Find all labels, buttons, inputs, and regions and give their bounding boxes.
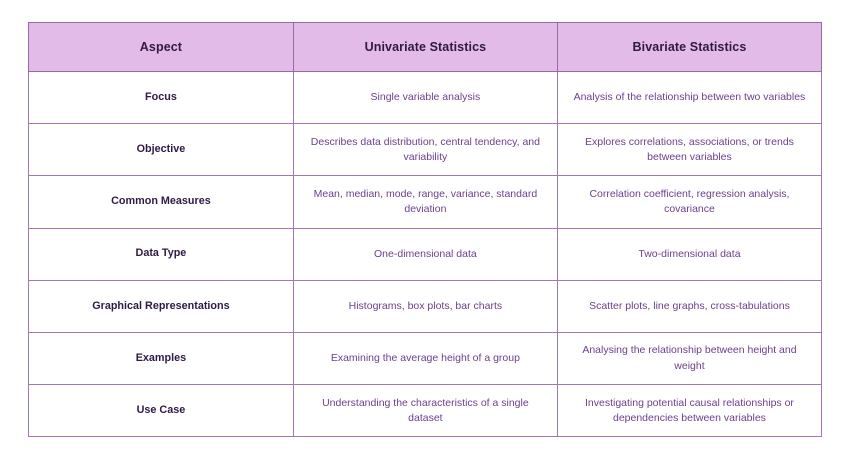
cell-univariate: Examining the average height of a group [293, 332, 557, 384]
cell-aspect: Examples [29, 332, 294, 384]
cell-univariate: Understanding the characteristics of a s… [293, 385, 557, 437]
table-body: Focus Single variable analysis Analysis … [29, 72, 822, 437]
table-header-row: Aspect Univariate Statistics Bivariate S… [29, 23, 822, 72]
table-row: Use Case Understanding the characteristi… [29, 385, 822, 437]
cell-bivariate: Investigating potential causal relations… [557, 385, 821, 437]
cell-bivariate: Explores correlations, associations, or … [557, 124, 821, 176]
cell-univariate: Histograms, box plots, bar charts [293, 280, 557, 332]
cell-univariate: One-dimensional data [293, 228, 557, 280]
cell-univariate: Mean, median, mode, range, variance, sta… [293, 176, 557, 228]
cell-aspect: Use Case [29, 385, 294, 437]
cell-bivariate: Scatter plots, line graphs, cross-tabula… [557, 280, 821, 332]
cell-bivariate: Analysis of the relationship between two… [557, 72, 821, 124]
cell-univariate: Describes data distribution, central ten… [293, 124, 557, 176]
table-row: Graphical Representations Histograms, bo… [29, 280, 822, 332]
page-root: Aspect Univariate Statistics Bivariate S… [0, 0, 850, 450]
comparison-table: Aspect Univariate Statistics Bivariate S… [28, 22, 822, 437]
column-header-univariate: Univariate Statistics [293, 23, 557, 72]
table-row: Data Type One-dimensional data Two-dimen… [29, 228, 822, 280]
comparison-table-container: Aspect Univariate Statistics Bivariate S… [28, 22, 822, 428]
table-header: Aspect Univariate Statistics Bivariate S… [29, 23, 822, 72]
cell-aspect: Objective [29, 124, 294, 176]
cell-aspect: Graphical Representations [29, 280, 294, 332]
table-row: Focus Single variable analysis Analysis … [29, 72, 822, 124]
cell-aspect: Common Measures [29, 176, 294, 228]
table-row: Common Measures Mean, median, mode, rang… [29, 176, 822, 228]
cell-bivariate: Analysing the relationship between heigh… [557, 332, 821, 384]
cell-aspect: Data Type [29, 228, 294, 280]
cell-bivariate: Two-dimensional data [557, 228, 821, 280]
cell-bivariate: Correlation coefficient, regression anal… [557, 176, 821, 228]
column-header-bivariate: Bivariate Statistics [557, 23, 821, 72]
cell-univariate: Single variable analysis [293, 72, 557, 124]
cell-aspect: Focus [29, 72, 294, 124]
column-header-aspect: Aspect [29, 23, 294, 72]
table-row: Objective Describes data distribution, c… [29, 124, 822, 176]
table-row: Examples Examining the average height of… [29, 332, 822, 384]
